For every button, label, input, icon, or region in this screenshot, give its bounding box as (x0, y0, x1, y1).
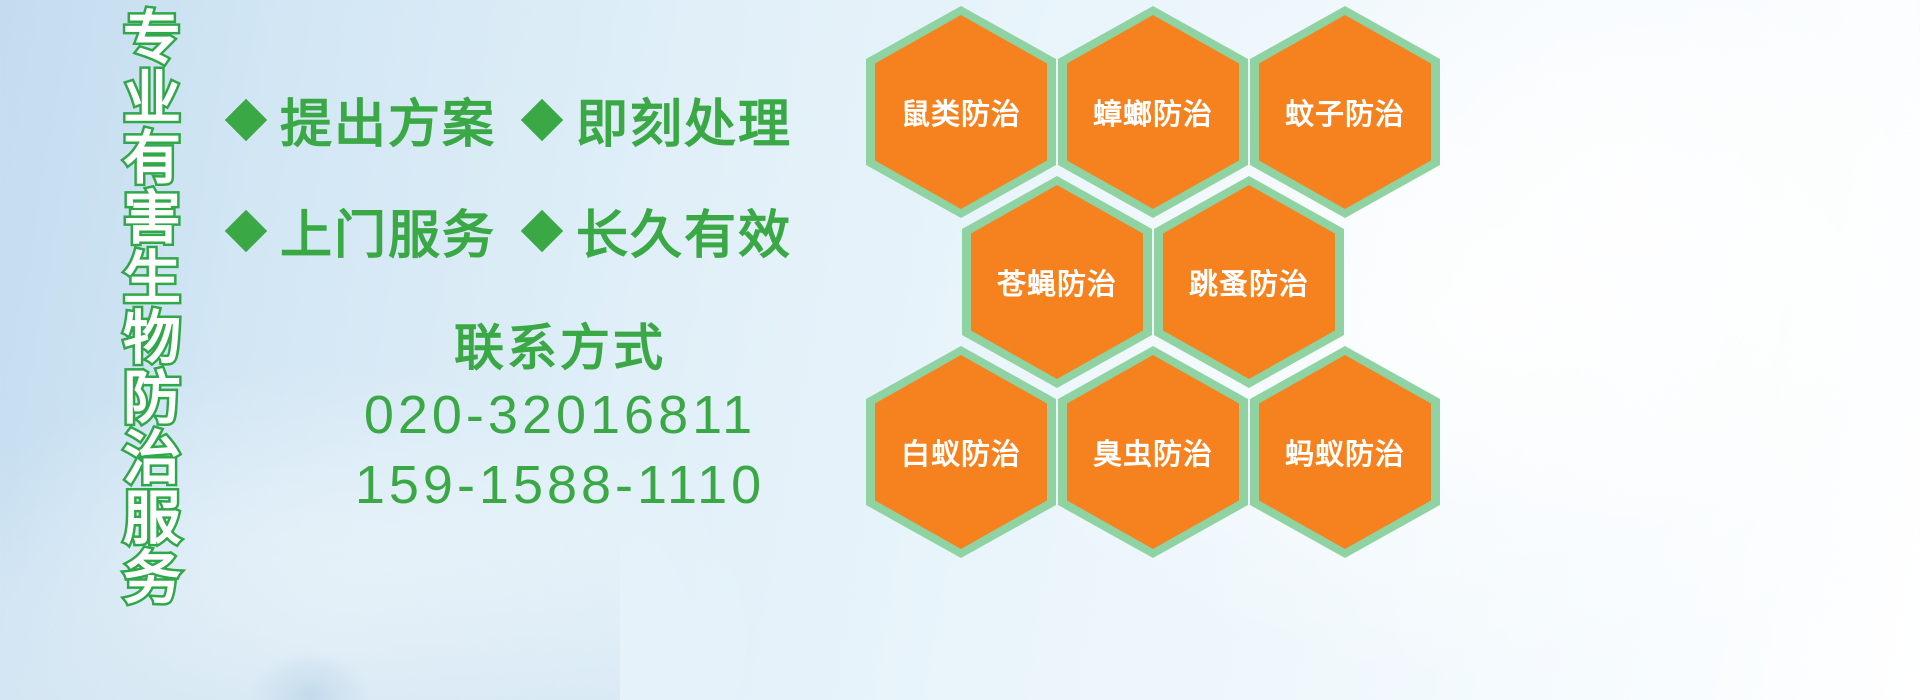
service-hex-flea[interactable]: 跳蚤防治 (1154, 176, 1344, 388)
service-label: 蚊子防治 (1285, 91, 1405, 133)
vertical-slogan-char: 有 (123, 128, 181, 188)
pest-control-banner: 专 业 有 害 生 物 防 治 服 务 提出方案 即刻处理 上门服务 (0, 0, 1920, 700)
contact-phone-mobile[interactable]: 159-1588-1110 (300, 450, 820, 520)
vertical-slogan-char: 生 (123, 248, 181, 308)
feature-item-immediate-handling: 即刻处理 (522, 82, 792, 157)
diamond-bullet-icon (522, 208, 562, 254)
service-label: 蚂蚁防治 (1285, 431, 1405, 473)
feature-item-door-service: 上门服务 (226, 193, 496, 268)
diamond-bullet-icon (522, 97, 562, 143)
service-label: 鼠类防治 (901, 91, 1021, 133)
background-blob (250, 650, 370, 700)
service-hex-mosquito[interactable]: 蚊子防治 (1250, 6, 1440, 218)
service-hex-rodent[interactable]: 鼠类防治 (866, 6, 1056, 218)
service-hex-fly[interactable]: 苍蝇防治 (962, 176, 1152, 388)
feature-item-long-lasting: 长久有效 (522, 193, 792, 268)
contact-block: 联系方式 020-32016811 159-1588-1110 (300, 316, 820, 520)
feature-row: 提出方案 即刻处理 (226, 82, 866, 157)
vertical-slogan: 专 业 有 害 生 物 防 治 服 务 (104, 8, 200, 568)
feature-label: 即刻处理 (576, 82, 792, 157)
background-haze-bottom (0, 530, 620, 700)
feature-label: 长久有效 (576, 193, 792, 268)
contact-title: 联系方式 (300, 316, 820, 380)
service-label: 蟑螂防治 (1093, 91, 1213, 133)
feature-row: 上门服务 长久有效 (226, 193, 866, 268)
service-label: 跳蚤防治 (1189, 261, 1309, 303)
service-label: 臭虫防治 (1093, 431, 1213, 473)
vertical-slogan-char: 业 (123, 68, 181, 128)
vertical-slogan-char: 服 (123, 488, 181, 548)
vertical-slogan-char: 专 (123, 8, 181, 68)
vertical-slogan-char: 务 (123, 548, 181, 608)
feature-list: 提出方案 即刻处理 上门服务 长久有效 (226, 82, 866, 304)
vertical-slogan-char: 物 (123, 308, 181, 368)
vertical-slogan-char: 防 (123, 368, 181, 428)
feature-item-propose-plan: 提出方案 (226, 82, 496, 157)
service-hex-ant[interactable]: 蚂蚁防治 (1250, 346, 1440, 558)
service-label: 苍蝇防治 (997, 261, 1117, 303)
contact-phone-landline[interactable]: 020-32016811 (300, 380, 820, 450)
service-hex-bedbug[interactable]: 臭虫防治 (1058, 346, 1248, 558)
vertical-slogan-char: 治 (123, 428, 181, 488)
diamond-bullet-icon (226, 97, 266, 143)
service-hex-cockroach[interactable]: 蟑螂防治 (1058, 6, 1248, 218)
diamond-bullet-icon (226, 208, 266, 254)
vertical-slogan-char: 害 (123, 188, 181, 248)
feature-label: 上门服务 (280, 193, 496, 268)
feature-label: 提出方案 (280, 82, 496, 157)
service-honeycomb: 鼠类防治 蟑螂防治 蚊子防治 苍蝇防治 跳蚤防治 白蚁防治 臭虫防治 (856, 0, 1456, 562)
service-label: 白蚁防治 (901, 431, 1021, 473)
service-hex-termite[interactable]: 白蚁防治 (866, 346, 1056, 558)
